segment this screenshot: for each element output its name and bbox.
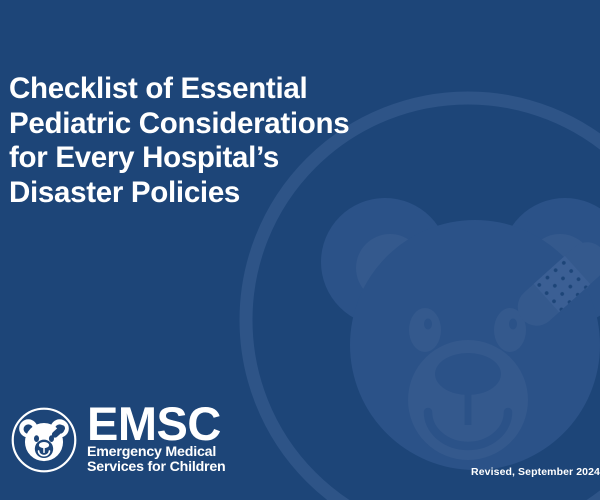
watermark-bandage-body — [510, 234, 600, 333]
watermark-bandage-pad — [534, 256, 591, 312]
watermark-bear-mouth-stem — [465, 380, 472, 425]
watermark-bear-eye-highlight-right — [509, 319, 517, 330]
logo-bear-mouth-stem — [43, 447, 44, 454]
watermark-bear-inner-ear-left — [356, 234, 424, 302]
logo-bear — [19, 420, 69, 462]
watermark-bear-inner-ear-right — [526, 234, 594, 302]
emsc-subtitle-line-2: Services for Children — [87, 460, 226, 476]
page-title: Checklist of Essential Pediatric Conside… — [9, 72, 429, 210]
emsc-subtitle-line-1: Emergency Medical — [87, 445, 226, 461]
emsc-bear-logo-icon — [10, 406, 78, 474]
watermark-bear-eye-highlight-left — [424, 319, 432, 330]
title-line-2: Pediatric Considerations — [9, 107, 429, 142]
title-line-1: Checklist of Essential — [9, 72, 429, 107]
watermark-bear-ear-right — [501, 198, 600, 326]
watermark-bear-eye-right — [494, 308, 526, 352]
watermark-bear-head — [350, 220, 600, 470]
title-line-3: for Every Hospital’s — [9, 141, 429, 176]
title-line-4: Disaster Policies — [9, 176, 429, 211]
watermark-bear-ear-left — [321, 198, 449, 326]
emsc-wordmark-block: EMSC Emergency Medical Services for Chil… — [87, 403, 226, 478]
watermark-bear-muzzle — [408, 340, 528, 460]
revised-date: Revised, September 2024 — [471, 466, 600, 478]
logo-bear-eye-left — [34, 436, 39, 443]
emsc-logo-lockup: EMSC Emergency Medical Services for Chil… — [10, 403, 226, 478]
watermark-bear-nose — [435, 353, 501, 395]
watermark-bear-smile — [428, 412, 508, 446]
cover-page: Checklist of Essential Pediatric Conside… — [0, 0, 600, 500]
watermark-bear — [321, 198, 600, 470]
watermark-bear-eye-left — [409, 308, 441, 352]
emsc-wordmark: EMSC — [87, 403, 226, 445]
watermark-bandage-pad-dots — [534, 256, 591, 312]
watermark-bandage-icon — [510, 234, 600, 333]
